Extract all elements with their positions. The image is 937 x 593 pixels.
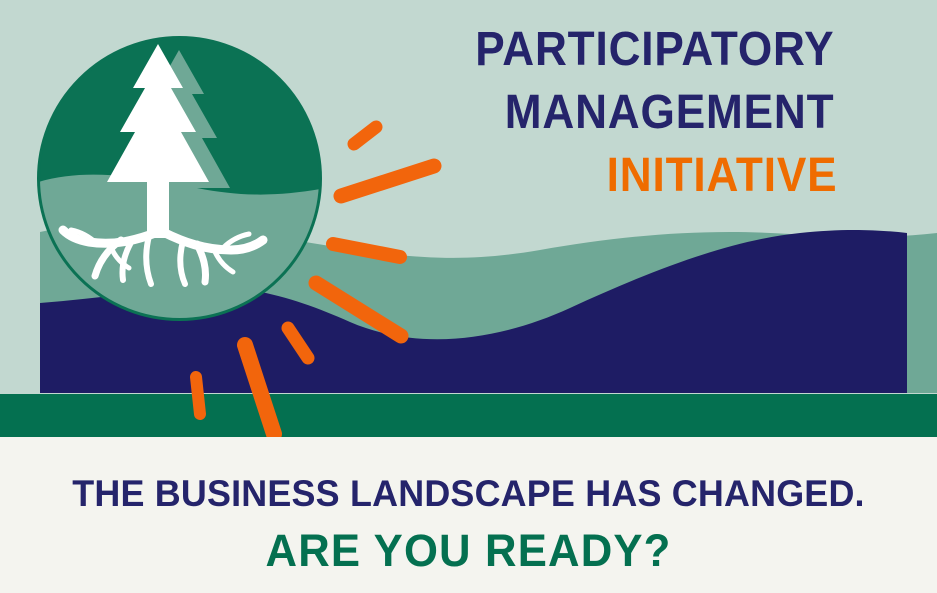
title-line-1: PARTICIPATORY — [475, 26, 834, 73]
logo-badge[interactable] — [37, 36, 322, 321]
poster-title: PARTICIPATORY MANAGEMENT INITIATIVE — [444, 26, 834, 199]
footer-subhead: ARE YOU READY? — [14, 525, 923, 577]
hero-section: PARTICIPATORY MANAGEMENT INITIATIVE — [0, 0, 937, 437]
title-line-2: MANAGEMENT — [475, 89, 834, 136]
pine-tree-circle-icon — [37, 36, 322, 321]
footer-headline: THE BUSINESS LANDSCAPE HAS CHANGED. — [14, 473, 923, 515]
ground-band-green — [0, 394, 937, 437]
footer-section: THE BUSINESS LANDSCAPE HAS CHANGED. ARE … — [0, 437, 937, 593]
title-line-3: INITIATIVE — [475, 152, 837, 199]
poster-canvas: PARTICIPATORY MANAGEMENT INITIATIVE THE … — [0, 0, 937, 593]
